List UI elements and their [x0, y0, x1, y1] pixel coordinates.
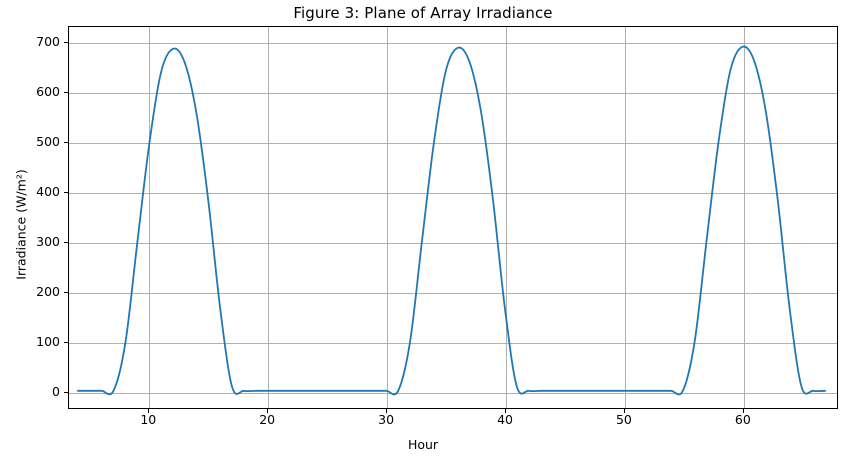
x-tick-label: 60	[735, 414, 751, 427]
x-tick-mark	[743, 409, 744, 413]
x-tick-label: 50	[616, 414, 632, 427]
y-tick-label: 300	[0, 235, 60, 248]
y-tick-label: 600	[0, 85, 60, 98]
data-line-series	[69, 27, 837, 408]
y-tick-label: 400	[0, 185, 60, 198]
y-tick-label: 200	[0, 285, 60, 298]
y-tick-label: 100	[0, 335, 60, 348]
x-tick-label: 20	[259, 414, 275, 427]
x-tick-mark	[267, 409, 268, 413]
x-tick-mark	[505, 409, 506, 413]
chart-title: Figure 3: Plane of Array Irradiance	[0, 4, 846, 22]
x-tick-label: 10	[140, 414, 156, 427]
x-tick-mark	[624, 409, 625, 413]
y-tick-label: 0	[0, 385, 60, 398]
x-axis-label: Hour	[0, 437, 846, 452]
x-tick-label: 30	[378, 414, 394, 427]
figure-canvas: Figure 3: Plane of Array Irradiance 0100…	[0, 0, 846, 464]
y-tick-label: 500	[0, 135, 60, 148]
plot-area	[68, 26, 838, 409]
x-tick-mark	[148, 409, 149, 413]
y-tick-label: 700	[0, 35, 60, 48]
y-axis-label: Irradiance (W/m²)	[14, 125, 29, 325]
x-tick-label: 40	[497, 414, 513, 427]
x-tick-mark	[386, 409, 387, 413]
